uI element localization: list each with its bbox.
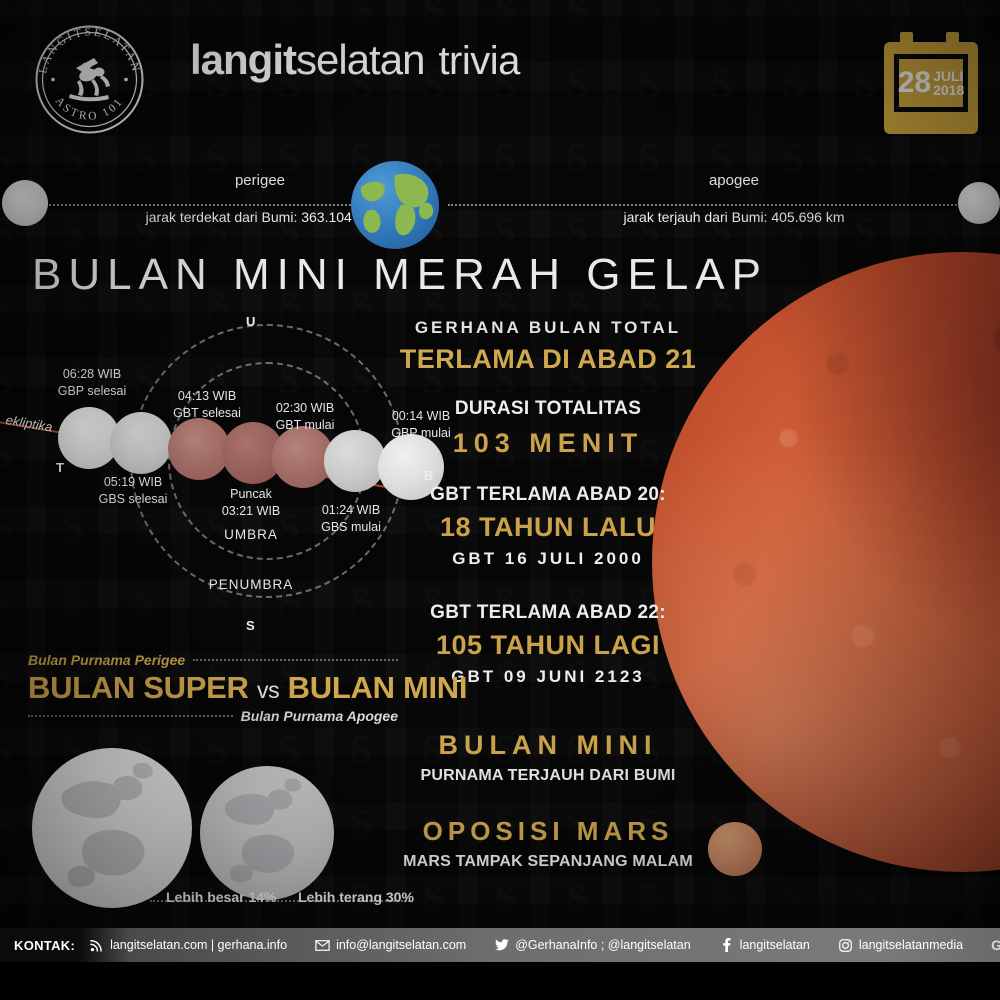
super-moon-maria (32, 748, 192, 908)
contact-facebook-text: langitselatan (740, 938, 810, 952)
comparison-top-caption: Bulan Purnama Perigee (28, 652, 185, 668)
fact-duration: DURASI TOTALITAS 103 MENIT (383, 398, 713, 459)
phase-event-3: GBT mulai (250, 417, 360, 434)
contact-facebook[interactable]: langitselatan (705, 938, 824, 953)
contact-email[interactable]: info@langitselatan.com (301, 938, 480, 953)
ecliptic-label: ekliptika (5, 412, 54, 435)
phase-time-2: 04:13 WIB (152, 388, 262, 405)
metric-brightness: Lebih terang 30% (298, 889, 414, 905)
contact-website-text: langitselatan.com | gerhana.info (110, 938, 287, 952)
contact-email-text: info@langitselatan.com (336, 938, 466, 952)
contact-label: KONTAK: (0, 938, 75, 953)
calendar-month: JULI (933, 69, 964, 83)
calendar-day: 28 (898, 68, 931, 98)
eclipse-kicker: GERHANA BULAN TOTAL (383, 318, 713, 338)
mini-moon-circle (200, 766, 334, 900)
apogee-title: apogee (534, 172, 934, 189)
brand-selatan: selatan (296, 36, 424, 83)
brand-langit: langit (190, 36, 296, 83)
googleplus-icon: G+ (991, 937, 1000, 953)
page-title: BULAN MINI MERAH GELAP (0, 250, 800, 300)
brand-wordmark: langitselatantrivia (190, 36, 520, 84)
instagram-icon (838, 938, 853, 953)
date-badge: 28 JULI 2018 (884, 32, 978, 134)
contact-twitter-text: @GerhanaInfo ; @langitselatan (515, 938, 690, 952)
footer-spacer (0, 962, 1000, 1000)
contact-instagram-text: langitselatanmedia (859, 938, 963, 952)
apogee-moon-icon (958, 182, 1000, 224)
century20-label: GBT TERLAMA ABAD 20: (383, 484, 713, 506)
comparison-bottom-rule (28, 715, 233, 717)
phase-label-gbt-selesai: 04:13 WIB GBT selesai (152, 388, 262, 422)
email-icon (315, 938, 330, 953)
peak-label: Puncak 03:21 WIB (196, 486, 306, 520)
comparison-vs: vs (257, 677, 279, 703)
metric-size-bigger: Lebih besar 14% (166, 889, 277, 905)
century22-label: GBT TERLAMA ABAD 22: (383, 602, 713, 624)
contact-twitter[interactable]: @GerhanaInfo ; @langitselatan (480, 938, 704, 953)
twitter-icon (494, 938, 509, 953)
cardinal-north: U (246, 314, 256, 329)
comparison-headline: BULAN SUPER vs BULAN MINI (28, 670, 398, 706)
calendar-date: 28 JULI 2018 (899, 59, 963, 107)
phase-event-1: GBS selesai (78, 491, 188, 508)
phase-time-1: 05:19 WIB (78, 474, 188, 491)
mars-title: OPOSISI MARS (383, 816, 713, 847)
century20-value: 18 TAHUN LALU (383, 512, 713, 543)
contact-footer: KONTAK: langitselatan.com | gerhana.info… (0, 928, 1000, 962)
century20-date: GBT 16 JULI 2000 (383, 549, 713, 569)
cardinal-south: S (246, 618, 255, 633)
mini-moon-maria (200, 766, 334, 900)
phase-event-0: GBP selesai (37, 383, 147, 400)
phase-time-3: 02:30 WIB (250, 400, 360, 417)
duration-label: DURASI TOTALITAS (383, 398, 713, 420)
phase-label-gbp-selesai: 06:28 WIB GBP selesai (37, 366, 147, 400)
comparison-bottom-caption: Bulan Purnama Apogee (241, 708, 398, 724)
apogee-label-group: apogee jarak terjauh dari Bumi: 405.696 … (534, 172, 934, 225)
perigee-moon-icon (2, 180, 48, 226)
umbra-label: UMBRA (196, 526, 306, 544)
fact-eclipse-longest: GERHANA BULAN TOTAL TERLAMA DI ABAD 21 (383, 318, 713, 375)
supermoon-vs-minimoon-heading: Bulan Purnama Perigee BULAN SUPER vs BUL… (28, 652, 398, 724)
phase-label-gbt-mulai: 02:30 WIB GBT mulai (250, 400, 360, 434)
brand-trivia: trivia (438, 39, 519, 83)
langitselatan-logo: LANGITSELATAN ASTRO 101 (32, 22, 147, 137)
mars-sub: MARS TAMPAK SEPANJANG MALAM (383, 853, 713, 871)
century22-value: 105 TAHUN LAGI (383, 630, 713, 661)
peak-title: Puncak (196, 486, 306, 503)
contact-instagram[interactable]: langitselatanmedia (824, 938, 977, 953)
minimoon-sub: PURNAMA TERJAUH DARI BUMI (383, 767, 713, 785)
fact-century-20: GBT TERLAMA ABAD 20: 18 TAHUN LALU GBT 1… (383, 484, 713, 569)
penumbra-label: PENUMBRA (186, 576, 316, 594)
calendar-year: 2018 (933, 83, 964, 97)
contact-website[interactable]: langitselatan.com | gerhana.info (75, 938, 301, 953)
phase-label-gbs-selesai: 05:19 WIB GBS selesai (78, 474, 188, 508)
apogee-detail: jarak terjauh dari Bumi: 405.696 km (534, 209, 934, 225)
comparison-left-term: BULAN SUPER (28, 670, 249, 705)
phase-event-2: GBT selesai (152, 405, 262, 422)
mars-planet-icon (708, 822, 762, 876)
peak-time: 03:21 WIB (196, 503, 306, 520)
fact-mars-opposition: OPOSISI MARS MARS TAMPAK SEPANJANG MALAM (383, 816, 713, 871)
comparison-top-rule (193, 659, 398, 661)
phase-moon-gbt-selesai (168, 418, 230, 480)
earth-icon (351, 161, 439, 249)
orbit-distance-band: perigee jarak terdekat dari Bumi: 363.10… (0, 160, 1000, 250)
comparison-right-term: BULAN MINI (288, 670, 468, 705)
contact-googleplus[interactable]: G+ LangitselatanMedia (977, 937, 1000, 953)
facebook-icon (719, 938, 734, 953)
phase-time-0: 06:28 WIB (37, 366, 147, 383)
duration-value: 103 MENIT (383, 428, 713, 459)
minimoon-title: BULAN MINI (383, 730, 713, 761)
super-moon-circle (32, 748, 192, 908)
fact-mini-moon: BULAN MINI PURNAMA TERJAUH DARI BUMI (383, 730, 713, 785)
eclipse-headline: TERLAMA DI ABAD 21 (383, 344, 713, 375)
cardinal-west: B (424, 468, 434, 483)
infographic-canvas: SSSSSSSSSSSSSSSSSSSSSSSSSSSSSSSSSSSSSSSS… (0, 0, 1000, 1000)
cardinal-east: T (56, 460, 64, 475)
rss-icon (89, 938, 104, 953)
